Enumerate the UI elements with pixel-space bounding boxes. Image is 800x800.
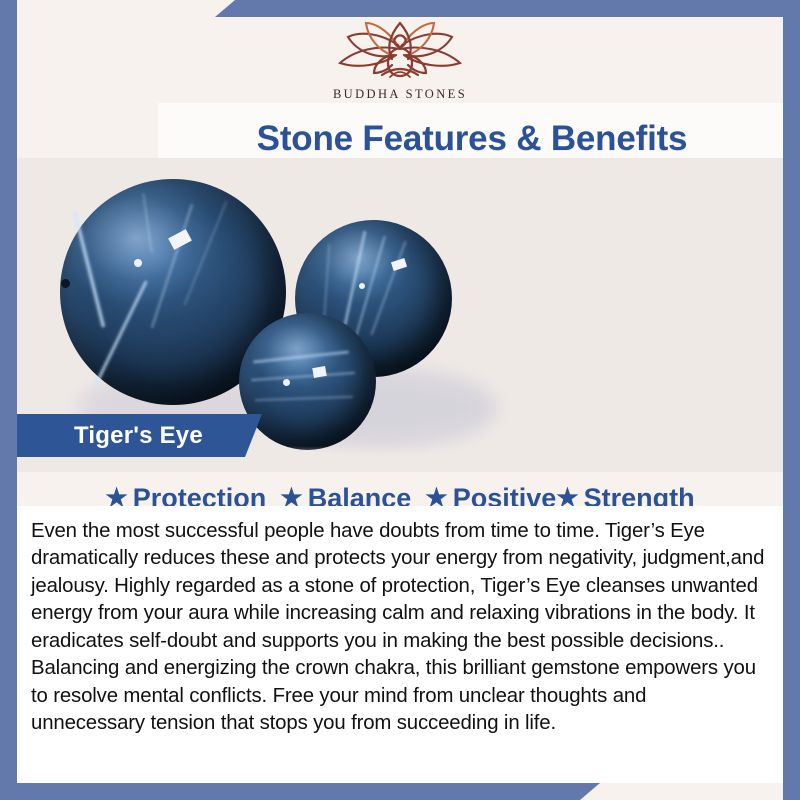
description-text: Even the most successful people have dou… [31, 518, 765, 738]
frame-left-bar [0, 0, 17, 800]
stone-name: Tiger's Eye [74, 422, 203, 450]
stone-sphere-small [239, 313, 376, 450]
brand-name: BUDDHA STONES [333, 87, 467, 102]
specular-dot [283, 379, 290, 386]
drill-hole [61, 279, 70, 288]
specular-dot [359, 283, 365, 289]
lotus-meditation-icon [330, 19, 470, 90]
stone-name-banner: Tiger's Eye [17, 414, 262, 457]
description-panel: Even the most successful people have dou… [17, 506, 783, 783]
content-card: BUDDHA STONES Stone Features & Benefits [17, 17, 783, 783]
frame-right-bar [783, 0, 800, 800]
frame-bottom-bar [0, 783, 620, 800]
specular-dot [134, 259, 142, 267]
brand-logo: BUDDHA STONES [17, 17, 783, 103]
specular-highlight [391, 258, 407, 271]
infographic-page: BUDDHA STONES Stone Features & Benefits [0, 0, 800, 800]
frame-top-bar [215, 0, 800, 17]
specular-highlight [168, 229, 192, 250]
